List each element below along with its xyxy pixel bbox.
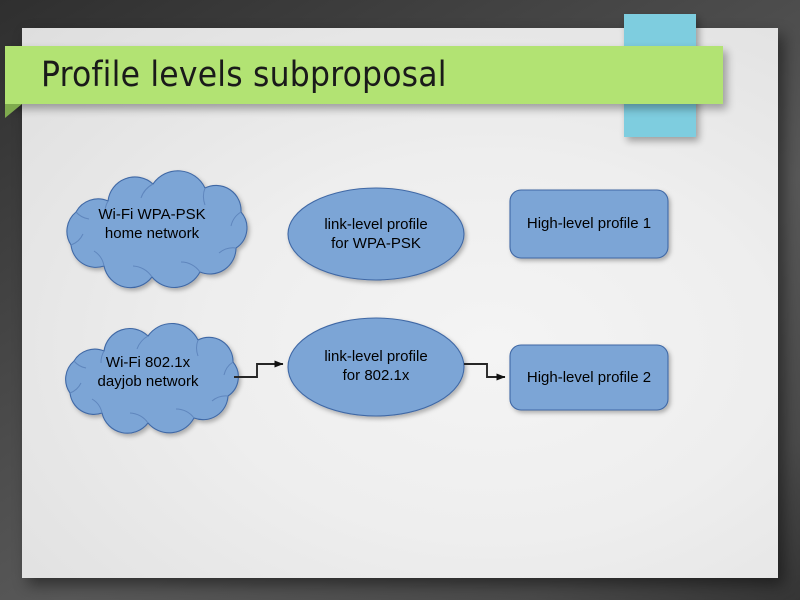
node-label-cloud-wpa-psk: Wi-Fi WPA-PSK home network [72, 205, 232, 243]
node-label-rect-high-level-1: High-level profile 1 [510, 214, 668, 233]
title-banner-fold-icon [5, 104, 22, 118]
slide-canvas: Profile levels subproposal [0, 0, 800, 600]
node-label-ellipse-link-8021x: link-level profile for 802.1x [296, 347, 456, 385]
page-title: Profile levels subproposal [41, 49, 701, 101]
node-label-cloud-8021x: Wi-Fi 802.1x dayjob network [68, 353, 228, 391]
node-label-rect-high-level-2: High-level profile 2 [510, 368, 668, 387]
node-label-ellipse-link-wpa-psk: link-level profile for WPA-PSK [296, 215, 456, 253]
